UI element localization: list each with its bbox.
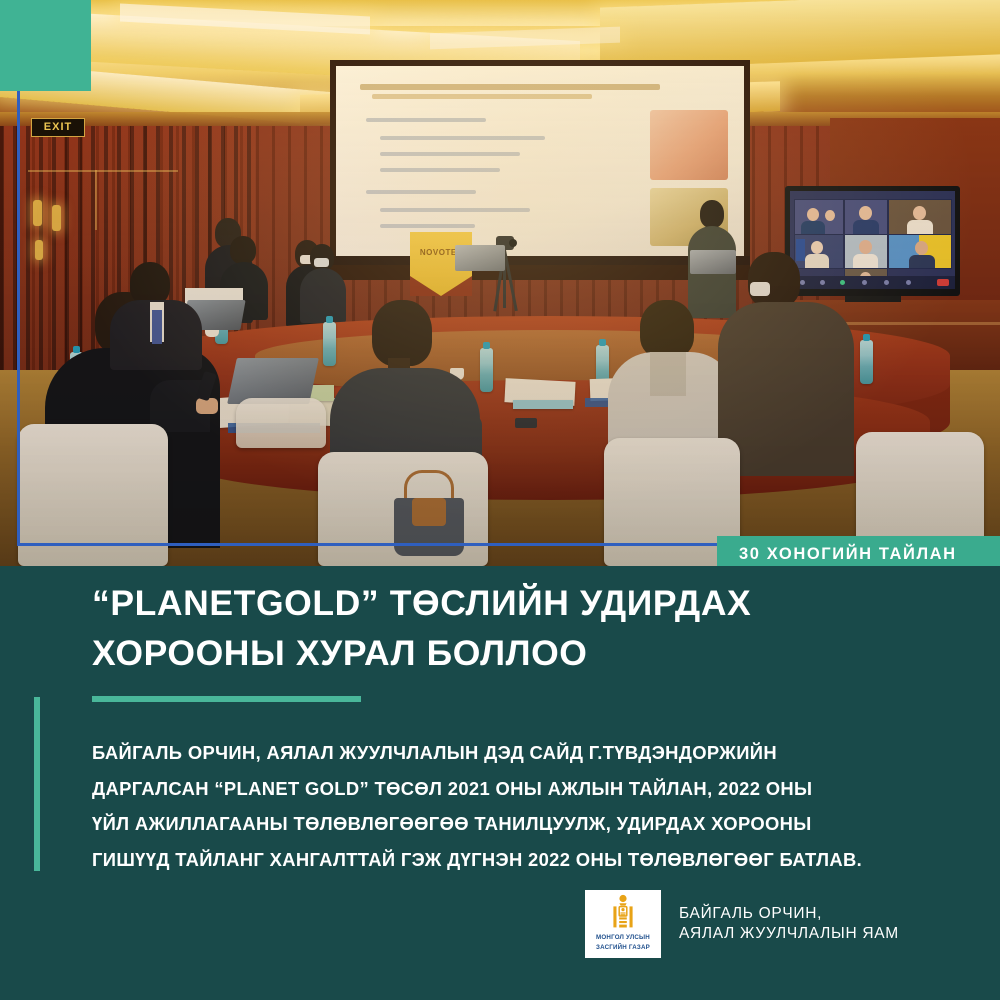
video-tile-3 xyxy=(888,199,952,235)
slide-bullet-6 xyxy=(380,208,530,212)
body-text-line-4: ГИШҮҮД ТАЙЛАНГ ХАНГАЛТТАЙ ГЭЖ ДҮГНЭН 202… xyxy=(92,842,972,878)
page-title-line-2: ХОРООНЫ ХУРАЛ БОЛЛОО xyxy=(92,628,922,678)
video-call-toolbar xyxy=(790,276,955,289)
tv-stand xyxy=(845,296,901,302)
ministry-name-line-1: БАЙГАЛЬ ОРЧИН, xyxy=(679,904,899,924)
video-call-screen xyxy=(790,191,955,289)
report-badge-label: 30 ХОНОГИЙН ТАЙЛАН xyxy=(717,545,957,564)
chair-back-left xyxy=(236,398,326,448)
slide-title-bar xyxy=(360,84,660,90)
ministry-name: БАЙГАЛЬ ОРЧИН, АЯЛАЛ ЖУУЛЧЛАЛЫН ЯАМ xyxy=(679,904,899,944)
laptop-4 xyxy=(690,250,736,274)
exit-sign: EXIT xyxy=(31,118,85,137)
phone-on-table xyxy=(515,418,537,428)
teal-corner-square xyxy=(0,0,91,91)
door-frame-line-1 xyxy=(28,170,178,172)
video-tile-5 xyxy=(844,234,888,269)
door-frame-line-2 xyxy=(95,170,97,230)
logo-text-line-1: МОНГОЛ УЛСЫН xyxy=(596,934,650,942)
body-text-line-2: ДАРГАЛСАН “PLANET GOLD” ТӨСӨЛ 2021 ОНЫ А… xyxy=(92,771,972,807)
water-bottle-2 xyxy=(323,322,336,366)
body-text-line-3: ҮЙЛ АЖИЛЛАГААНЫ ТӨЛӨВЛӨГӨӨГӨӨ ТАНИЛЦУУЛЖ… xyxy=(92,806,972,842)
video-tile-6 xyxy=(888,234,952,269)
logo-text-line-2: ЗАСГИЙН ГАЗАР xyxy=(596,944,650,952)
wall-sconce-1 xyxy=(33,200,42,226)
body-text-line-1: БАЙГАЛЬ ОРЧИН, АЯЛАЛ ЖУУЛЧЛАЛЫН ДЭД САЙД… xyxy=(92,735,972,771)
title-divider xyxy=(92,696,361,702)
laptop-3 xyxy=(455,245,505,271)
meeting-photo: EXIT xyxy=(0,0,1000,566)
camera-lens xyxy=(509,239,517,247)
slide-bullet-5 xyxy=(366,190,476,194)
water-bottle-3 xyxy=(480,348,493,392)
slide-bullet-4 xyxy=(380,168,500,172)
wall-sconce-2 xyxy=(52,205,61,231)
poster-canvas: EXIT xyxy=(0,0,1000,1000)
video-tile-4 xyxy=(794,234,844,269)
slide-image-top xyxy=(650,110,728,180)
video-tile-2 xyxy=(844,199,888,235)
body-text: БАЙГАЛЬ ОРЧИН, АЯЛАЛ ЖУУЛЧЛАЛЫН ДЭД САЙД… xyxy=(92,735,972,877)
page-title-line-1: “PLANETGOLD” ТӨСЛИЙН УДИРДАХ xyxy=(92,578,922,628)
end-call-button xyxy=(937,279,949,286)
slide-bullet-2 xyxy=(380,136,545,140)
wall-sconce-3 xyxy=(35,240,43,260)
vertical-accent-bar xyxy=(34,697,40,871)
projection-screen-base xyxy=(330,256,750,265)
handbag-flap xyxy=(412,498,446,526)
standee-chevron xyxy=(410,276,472,296)
footer: МОНГОЛ УЛСЫН ЗАСГИЙН ГАЗАР БАЙГАЛЬ ОРЧИН… xyxy=(585,890,899,958)
notepad-teal xyxy=(513,400,573,409)
projection-screen xyxy=(336,66,744,261)
water-bottle-6 xyxy=(860,340,873,384)
slide-bullet-1 xyxy=(366,118,486,122)
ministry-name-line-2: АЯЛАЛ ЖУУЛЧЛАЛЫН ЯАМ xyxy=(679,924,899,944)
slide-subtitle-bar xyxy=(372,94,592,99)
page-title: “PLANETGOLD” ТӨСЛИЙН УДИРДАХ ХОРООНЫ ХУР… xyxy=(92,578,922,678)
government-logo: МОНГОЛ УЛСЫН ЗАСГИЙН ГАЗАР xyxy=(585,890,661,958)
slide-bullet-7 xyxy=(380,224,475,228)
video-tile-1 xyxy=(794,199,844,235)
slide-bullet-3 xyxy=(380,152,520,156)
soyombo-icon xyxy=(608,894,638,932)
